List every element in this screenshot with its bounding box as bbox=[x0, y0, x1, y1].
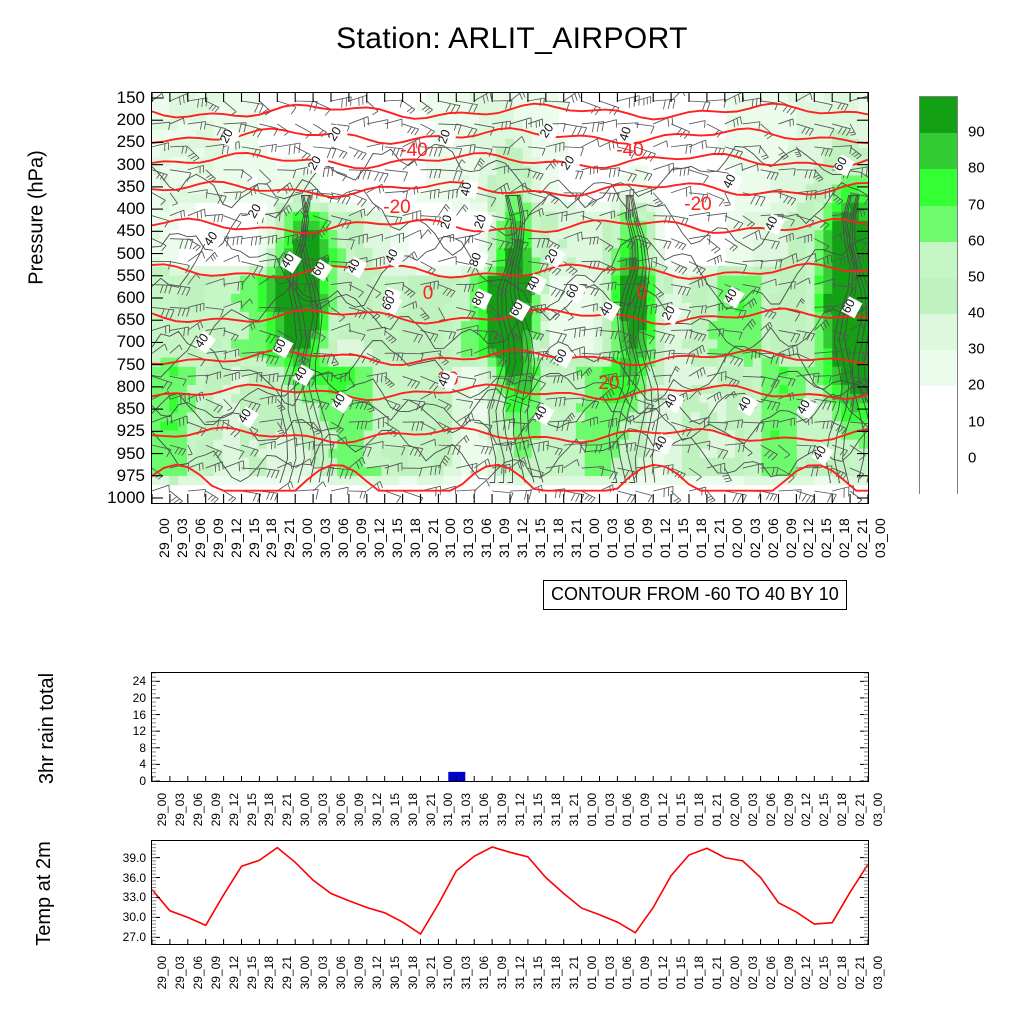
time-tick-01_15: 01_15 bbox=[674, 793, 688, 826]
rain-tick-20: 20 bbox=[133, 691, 146, 705]
rain-tick-12: 12 bbox=[133, 724, 146, 738]
time-tick-30_09: 30_09 bbox=[353, 518, 369, 558]
time-tick-29_09: 29_09 bbox=[209, 793, 223, 826]
contour-label: 0 bbox=[423, 283, 434, 304]
time-tick-30_15: 30_15 bbox=[388, 956, 402, 989]
time-tick-31_06: 31_06 bbox=[477, 956, 491, 989]
rain-ticks bbox=[152, 673, 868, 781]
time-tick-29_12: 29_12 bbox=[227, 956, 241, 989]
pressure-tick-800: 800 bbox=[117, 377, 145, 397]
time-tick-29_18: 29_18 bbox=[262, 793, 276, 826]
pressure-tick-650: 650 bbox=[117, 310, 145, 330]
pressure-tick-150: 150 bbox=[117, 88, 145, 108]
colorbar-band-4 bbox=[920, 242, 957, 279]
time-tick-02_03: 02_03 bbox=[747, 518, 763, 558]
rain-plot bbox=[152, 673, 868, 781]
time-tick-31_03: 31_03 bbox=[459, 956, 473, 989]
colorbar-band-10 bbox=[920, 459, 957, 495]
pressure-tick-600: 600 bbox=[117, 288, 145, 308]
time-tick-01_21: 01_21 bbox=[710, 793, 724, 826]
time-tick-30_09: 30_09 bbox=[352, 793, 366, 826]
colorbar-band-9 bbox=[920, 423, 957, 460]
colorbar-label-40: 40 bbox=[968, 305, 985, 322]
time-tick-30_21: 30_21 bbox=[424, 793, 438, 826]
time-tick-29_21: 29_21 bbox=[281, 518, 297, 558]
time-tick-30_12: 30_12 bbox=[370, 793, 384, 826]
time-tick-31_12: 31_12 bbox=[513, 793, 527, 826]
time-tick-02_18: 02_18 bbox=[835, 956, 849, 989]
time-tick-31_21: 31_21 bbox=[567, 793, 581, 826]
pressure-tick-300: 300 bbox=[117, 155, 145, 175]
time-tick-31_09: 31_09 bbox=[496, 518, 512, 558]
time-tick-01_12: 01_12 bbox=[657, 518, 673, 558]
time-tick-30_03: 30_03 bbox=[317, 518, 333, 558]
colorbar-band-5 bbox=[920, 278, 957, 315]
time-tick-01_21: 01_21 bbox=[710, 956, 724, 989]
time-tick-02_03: 02_03 bbox=[746, 956, 760, 989]
time-tick-29_06: 29_06 bbox=[192, 518, 208, 558]
temp-tick-27.0: 27.0 bbox=[123, 930, 146, 944]
time-tick-02_12: 02_12 bbox=[800, 518, 816, 558]
time-tick-31_03: 31_03 bbox=[460, 518, 476, 558]
time-tick-01_00: 01_00 bbox=[585, 793, 599, 826]
time-tick-02_00: 02_00 bbox=[728, 793, 742, 826]
time-tick-30_00: 30_00 bbox=[298, 793, 312, 826]
pressure-tick-550: 550 bbox=[117, 266, 145, 286]
rain-tick-24: 24 bbox=[133, 674, 146, 688]
time-tick-31_06: 31_06 bbox=[478, 518, 494, 558]
colorbar-band-3 bbox=[920, 206, 957, 243]
time-tick-31_00: 31_00 bbox=[441, 793, 455, 826]
time-tick-02_06: 02_06 bbox=[764, 793, 778, 826]
colorbar-label-10: 10 bbox=[968, 413, 985, 430]
time-tick-31_18: 31_18 bbox=[549, 956, 563, 989]
temp-y-axis-title: Temp at 2m bbox=[0, 840, 102, 945]
time-tick-31_00: 31_00 bbox=[441, 956, 455, 989]
time-tick-31_03: 31_03 bbox=[459, 793, 473, 826]
time-tick-31_09: 31_09 bbox=[495, 793, 509, 826]
rain-y-axis-ticks: 04812162024 bbox=[110, 672, 146, 782]
time-tick-01_18: 01_18 bbox=[693, 518, 709, 558]
time-tick-29_03: 29_03 bbox=[173, 793, 187, 826]
time-tick-01_15: 01_15 bbox=[674, 956, 688, 989]
time-tick-02_15: 02_15 bbox=[817, 793, 831, 826]
temp-panel[interactable] bbox=[151, 840, 869, 945]
contour-label: -20 bbox=[684, 194, 711, 215]
colorbar[interactable] bbox=[919, 96, 958, 494]
time-tick-29_15: 29_15 bbox=[245, 793, 259, 826]
main-y-axis-title: Pressure (hPa) bbox=[26, 103, 49, 333]
contour-label: -40 bbox=[400, 140, 427, 161]
time-tick-02_18: 02_18 bbox=[836, 518, 852, 558]
cross-section-panel[interactable]: -40-40-20-200020202020204020204060402020… bbox=[151, 92, 869, 504]
pressure-tick-850: 850 bbox=[117, 399, 145, 419]
time-tick-02_09: 02_09 bbox=[783, 518, 799, 558]
pressure-tick-500: 500 bbox=[117, 244, 145, 264]
temp-ticks bbox=[152, 844, 868, 944]
colorbar-label-70: 70 bbox=[968, 196, 985, 213]
contour-label: 0 bbox=[637, 283, 648, 304]
time-tick-02_21: 02_21 bbox=[853, 956, 867, 989]
temp-y-axis-title-text: Temp at 2m bbox=[33, 786, 56, 1001]
page-title: Station: ARLIT_AIRPORT bbox=[0, 22, 1024, 56]
temp-x-axis-ticks: 29_0029_0329_0629_0929_1229_1529_1829_21… bbox=[151, 951, 869, 1007]
time-tick-29_15: 29_15 bbox=[246, 518, 262, 558]
main-y-axis-ticks: 1502002503003504004505005506006507007508… bbox=[95, 92, 145, 504]
time-tick-30_00: 30_00 bbox=[299, 518, 315, 558]
time-tick-02_15: 02_15 bbox=[818, 518, 834, 558]
time-tick-29_12: 29_12 bbox=[227, 793, 241, 826]
rain-tick-0: 0 bbox=[139, 774, 146, 788]
time-tick-29_06: 29_06 bbox=[191, 956, 205, 989]
time-tick-30_06: 30_06 bbox=[334, 793, 348, 826]
time-tick-30_06: 30_06 bbox=[335, 518, 351, 558]
time-tick-29_09: 29_09 bbox=[209, 956, 223, 989]
time-tick-30_18: 30_18 bbox=[406, 956, 420, 989]
time-tick-01_06: 01_06 bbox=[621, 518, 637, 558]
pressure-tick-950: 950 bbox=[117, 444, 145, 464]
time-tick-01_03: 01_03 bbox=[603, 793, 617, 826]
pressure-tick-750: 750 bbox=[117, 355, 145, 375]
time-tick-02_00: 02_00 bbox=[729, 518, 745, 558]
time-tick-30_09: 30_09 bbox=[352, 956, 366, 989]
time-tick-01_09: 01_09 bbox=[639, 518, 655, 558]
time-tick-29_03: 29_03 bbox=[173, 956, 187, 989]
rain-tick-16: 16 bbox=[133, 708, 146, 722]
time-tick-31_06: 31_06 bbox=[477, 793, 491, 826]
contour-caption: CONTOUR FROM -60 TO 40 BY 10 bbox=[543, 580, 847, 610]
pressure-tick-200: 200 bbox=[117, 110, 145, 130]
time-tick-29_21: 29_21 bbox=[280, 793, 294, 826]
time-tick-02_18: 02_18 bbox=[835, 793, 849, 826]
pressure-tick-450: 450 bbox=[117, 221, 145, 241]
colorbar-band-8 bbox=[920, 386, 957, 423]
time-tick-29_06: 29_06 bbox=[191, 793, 205, 826]
time-tick-02_06: 02_06 bbox=[764, 956, 778, 989]
time-tick-31_15: 31_15 bbox=[531, 793, 545, 826]
time-tick-31_00: 31_00 bbox=[442, 518, 458, 558]
time-tick-31_18: 31_18 bbox=[550, 518, 566, 558]
time-tick-30_03: 30_03 bbox=[316, 956, 330, 989]
time-tick-29_00: 29_00 bbox=[155, 956, 169, 989]
pressure-tick-250: 250 bbox=[117, 132, 145, 152]
time-tick-01_03: 01_03 bbox=[603, 956, 617, 989]
main-x-axis-ticks: 29_0029_0329_0629_0929_1229_1529_1829_21… bbox=[151, 512, 869, 582]
pressure-tick-975: 975 bbox=[117, 466, 145, 486]
time-tick-29_03: 29_03 bbox=[174, 518, 190, 558]
colorbar-band-2 bbox=[920, 169, 957, 206]
contour-label: 20 bbox=[438, 212, 460, 232]
time-tick-03_00: 03_00 bbox=[872, 518, 888, 558]
time-tick-30_06: 30_06 bbox=[334, 956, 348, 989]
time-tick-02_03: 02_03 bbox=[746, 793, 760, 826]
contour-label: -20 bbox=[383, 197, 410, 218]
colorbar-band-6 bbox=[920, 314, 957, 351]
time-tick-30_03: 30_03 bbox=[316, 793, 330, 826]
rain-y-axis-title: 3hr rain total bbox=[0, 672, 102, 782]
time-tick-01_00: 01_00 bbox=[586, 518, 602, 558]
time-tick-30_21: 30_21 bbox=[424, 956, 438, 989]
time-tick-01_12: 01_12 bbox=[656, 793, 670, 826]
rain-tick-4: 4 bbox=[139, 757, 146, 771]
time-tick-30_12: 30_12 bbox=[370, 956, 384, 989]
time-tick-30_18: 30_18 bbox=[407, 518, 423, 558]
pressure-tick-400: 400 bbox=[117, 199, 145, 219]
time-tick-03_00: 03_00 bbox=[871, 956, 885, 989]
time-tick-02_09: 02_09 bbox=[782, 956, 796, 989]
time-tick-02_15: 02_15 bbox=[817, 956, 831, 989]
colorbar-band-1 bbox=[920, 133, 957, 170]
time-tick-02_06: 02_06 bbox=[765, 518, 781, 558]
temp-tick-36.0: 36.0 bbox=[123, 871, 146, 885]
time-tick-31_12: 31_12 bbox=[513, 956, 527, 989]
rain-panel[interactable] bbox=[151, 672, 869, 782]
time-tick-03_00: 03_00 bbox=[871, 793, 885, 826]
time-tick-01_09: 01_09 bbox=[638, 956, 652, 989]
time-tick-29_18: 29_18 bbox=[263, 518, 279, 558]
time-tick-30_00: 30_00 bbox=[298, 956, 312, 989]
colorbar-label-90: 90 bbox=[968, 124, 985, 141]
time-tick-30_12: 30_12 bbox=[371, 518, 387, 558]
time-tick-29_09: 29_09 bbox=[210, 518, 226, 558]
time-tick-30_15: 30_15 bbox=[389, 518, 405, 558]
pressure-tick-700: 700 bbox=[117, 332, 145, 352]
time-tick-01_09: 01_09 bbox=[638, 793, 652, 826]
time-tick-02_21: 02_21 bbox=[854, 518, 870, 558]
time-tick-29_00: 29_00 bbox=[155, 793, 169, 826]
time-tick-02_21: 02_21 bbox=[853, 793, 867, 826]
time-tick-31_09: 31_09 bbox=[495, 956, 509, 989]
time-tick-31_18: 31_18 bbox=[549, 793, 563, 826]
time-tick-01_18: 01_18 bbox=[692, 956, 706, 989]
time-tick-01_00: 01_00 bbox=[585, 956, 599, 989]
time-tick-02_12: 02_12 bbox=[799, 793, 813, 826]
time-tick-31_21: 31_21 bbox=[568, 518, 584, 558]
time-tick-30_21: 30_21 bbox=[425, 518, 441, 558]
temp-line bbox=[152, 847, 868, 934]
colorbar-label-60: 60 bbox=[968, 232, 985, 249]
colorbar-label-0: 0 bbox=[968, 449, 976, 466]
time-tick-02_12: 02_12 bbox=[799, 956, 813, 989]
time-tick-02_09: 02_09 bbox=[782, 793, 796, 826]
cross-section-plot: -40-40-20-200020202020204020204060402020… bbox=[152, 93, 868, 503]
colorbar-label-50: 50 bbox=[968, 268, 985, 285]
colorbar-label-20: 20 bbox=[968, 377, 985, 394]
contour-label: 20 bbox=[598, 373, 619, 394]
temp-y-axis-ticks: 27.030.033.036.039.0 bbox=[100, 840, 146, 945]
colorbar-band-7 bbox=[920, 350, 957, 387]
time-tick-01_15: 01_15 bbox=[675, 518, 691, 558]
pressure-tick-350: 350 bbox=[117, 177, 145, 197]
time-tick-02_00: 02_00 bbox=[728, 956, 742, 989]
temp-tick-39.0: 39.0 bbox=[123, 851, 146, 865]
time-tick-01_06: 01_06 bbox=[620, 793, 634, 826]
time-tick-29_15: 29_15 bbox=[245, 956, 259, 989]
pressure-tick-925: 925 bbox=[117, 421, 145, 441]
time-tick-01_06: 01_06 bbox=[620, 956, 634, 989]
rain-x-axis-ticks: 29_0029_0329_0629_0929_1229_1529_1829_21… bbox=[151, 788, 869, 844]
temp-plot bbox=[152, 841, 868, 944]
time-tick-29_18: 29_18 bbox=[262, 956, 276, 989]
time-tick-31_15: 31_15 bbox=[531, 956, 545, 989]
temp-tick-33.0: 33.0 bbox=[123, 890, 146, 904]
time-tick-01_03: 01_03 bbox=[604, 518, 620, 558]
time-tick-31_21: 31_21 bbox=[567, 956, 581, 989]
time-tick-29_12: 29_12 bbox=[228, 518, 244, 558]
colorbar-label-80: 80 bbox=[968, 160, 985, 177]
contour-label: 20 bbox=[325, 124, 349, 146]
time-tick-01_12: 01_12 bbox=[656, 956, 670, 989]
temp-tick-30.0: 30.0 bbox=[123, 910, 146, 924]
rain-tick-8: 8 bbox=[139, 741, 146, 755]
time-tick-01_18: 01_18 bbox=[692, 793, 706, 826]
colorbar-label-30: 30 bbox=[968, 341, 985, 358]
time-tick-29_00: 29_00 bbox=[156, 518, 172, 558]
colorbar-band-0 bbox=[920, 97, 957, 134]
time-tick-29_21: 29_21 bbox=[280, 956, 294, 989]
time-tick-30_15: 30_15 bbox=[388, 793, 402, 826]
time-tick-31_12: 31_12 bbox=[514, 518, 530, 558]
time-tick-01_21: 01_21 bbox=[711, 518, 727, 558]
time-tick-31_15: 31_15 bbox=[532, 518, 548, 558]
time-tick-30_18: 30_18 bbox=[406, 793, 420, 826]
pressure-tick-1000: 1000 bbox=[107, 488, 145, 508]
weather-cross-section-page: Station: ARLIT_AIRPORT Pressure (hPa) 15… bbox=[0, 0, 1024, 1024]
